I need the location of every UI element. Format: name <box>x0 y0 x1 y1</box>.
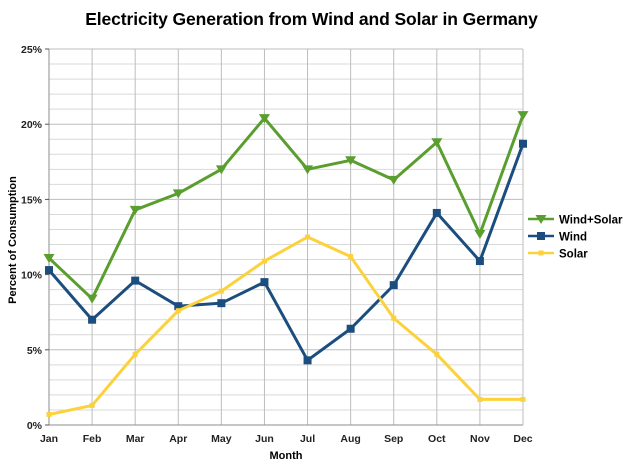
x-axis-tick-label: Dec <box>513 433 532 445</box>
data-point-marker <box>262 259 267 264</box>
data-point-marker <box>433 209 441 217</box>
data-point-marker <box>88 316 96 324</box>
data-point-marker <box>347 325 355 333</box>
legend-item-solar[interactable]: Solar <box>528 249 588 261</box>
data-point-marker <box>133 352 138 357</box>
y-axis-tick-label: 10% <box>21 270 43 282</box>
data-point-marker <box>217 299 225 307</box>
series-line <box>49 237 523 414</box>
x-axis-tick-label: Jul <box>300 433 315 445</box>
x-axis-tick-labels: JanFebMarAprMayJunJulAugSepOctNovDec <box>40 433 533 445</box>
data-point-marker <box>130 206 141 215</box>
data-point-marker <box>477 397 482 402</box>
series-solar <box>47 235 526 417</box>
x-axis-title: Month <box>270 450 303 462</box>
data-point-marker <box>391 316 396 321</box>
x-axis-tick-label: Sep <box>384 433 403 445</box>
data-point-marker <box>518 111 529 120</box>
data-point-marker <box>47 412 52 417</box>
legend-marker <box>539 251 544 256</box>
data-point-marker <box>219 289 224 294</box>
x-axis-tick-label: Aug <box>340 433 360 445</box>
chart-legend: Wind+SolarWindSolar <box>528 215 623 261</box>
data-point-marker <box>348 254 353 259</box>
data-point-marker <box>176 308 181 313</box>
data-point-marker <box>388 176 399 185</box>
data-point-marker <box>90 403 95 408</box>
data-series-layer <box>44 111 529 417</box>
data-point-marker <box>304 356 312 364</box>
legend-label: Solar <box>559 249 588 261</box>
data-point-marker <box>476 257 484 265</box>
x-axis-tick-label: Jan <box>40 433 58 445</box>
data-point-marker <box>521 397 526 402</box>
gridlines-minor <box>49 64 523 410</box>
x-axis-tick-label: Oct <box>428 433 446 445</box>
series-line <box>49 115 523 298</box>
data-point-marker <box>305 235 310 240</box>
legend-item-wind[interactable]: Wind <box>528 232 587 244</box>
line-chart-plot: 0%5%10%15%20%25% JanFebMarAprMayJunJulAu… <box>0 0 623 467</box>
y-axis-tick-label: 15% <box>21 194 43 206</box>
x-axis-tick-label: Nov <box>470 433 490 445</box>
y-axis-tick-label: 20% <box>21 119 43 131</box>
x-axis-tick-label: May <box>211 433 232 445</box>
data-point-marker <box>474 230 485 239</box>
y-axis-title: Percent of Consumption <box>7 176 19 304</box>
y-axis-tick-label: 0% <box>27 420 43 432</box>
data-point-marker <box>390 281 398 289</box>
data-point-marker <box>131 277 139 285</box>
data-point-marker <box>260 278 268 286</box>
data-point-marker <box>45 266 53 274</box>
legend-item-wind-solar[interactable]: Wind+Solar <box>528 215 623 227</box>
y-axis-tick-label: 5% <box>27 345 43 357</box>
legend-label: Wind <box>559 232 587 244</box>
x-axis-tick-label: Feb <box>83 433 102 445</box>
y-axis-tick-labels: 0%5%10%15%20%25% <box>21 44 49 432</box>
x-axis-tick-label: Apr <box>169 433 187 445</box>
y-axis-tick-label: 25% <box>21 44 43 56</box>
x-axis-tick-label: Jun <box>255 433 274 445</box>
legend-marker <box>537 232 545 240</box>
series-wind <box>45 140 527 365</box>
data-point-marker <box>519 140 527 148</box>
legend-label: Wind+Solar <box>559 215 623 227</box>
x-axis-tick-label: Mar <box>126 433 145 445</box>
data-point-marker <box>434 352 439 357</box>
data-point-marker <box>87 295 98 304</box>
chart-container: Electricity Generation from Wind and Sol… <box>0 0 623 467</box>
